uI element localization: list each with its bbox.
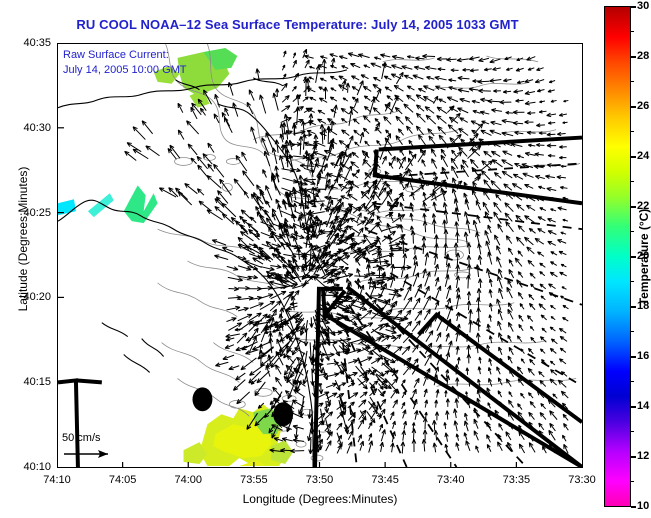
colorbar-minor-tick [631,281,634,282]
x-tick-label: 73:35 [503,474,531,486]
x-tick-label: 73:45 [371,474,399,486]
y-tick-marks [57,43,66,468]
x-tick-label: 73:55 [240,474,268,486]
station-marker-east [273,402,293,426]
surface-current-vectors [125,49,569,454]
colorbar-tick-mark [631,106,636,108]
right-arrow-icon [62,444,118,462]
station-marker-west [192,387,212,411]
colorbar-minor-tick [631,231,634,232]
colorbar-tick-mark [631,6,636,8]
colorbar-minor-tick [631,81,634,82]
colorbar-minor-tick [631,181,634,182]
plot-area[interactable] [57,43,583,468]
x-tick-label: 73:50 [306,474,334,486]
vector-scale-label: 50 cm/s [62,432,118,444]
colorbar-minor-tick [631,31,634,32]
annotation-line-2: July 14, 2005 10:00 GMT [63,63,187,78]
colorbar-tick-mark [631,256,636,258]
x-tick-label: 74:10 [43,474,71,486]
x-axis-label: Longitude (Degrees:Minutes) [57,492,583,506]
colorbar[interactable] [604,6,631,507]
y-axis-label: Latitude (Degrees:Minutes) [16,124,30,354]
x-tick-label: 74:00 [174,474,202,486]
x-tick-label: 73:30 [568,474,596,486]
colorbar-tick-mark [631,156,636,158]
colorbar-tick-label: 12 [637,450,649,462]
y-tick-label: 40:25 [23,207,51,219]
colorbar-tick-label: 26 [637,100,649,112]
colorbar-tick-mark [631,356,636,358]
colorbar-tick-label: 14 [637,400,649,412]
colorbar-tick-mark [631,456,636,458]
y-tick-label: 40:10 [23,461,51,473]
x-tick-label: 73:40 [437,474,465,486]
colorbar-minor-tick [631,131,634,132]
colorbar-minor-tick [631,481,634,482]
raw-current-annotation: Raw Surface Current: July 14, 2005 10:00… [63,48,187,78]
colorbar-tick-mark [631,306,636,308]
y-tick-label: 40:15 [23,376,51,388]
colorbar-tick-label: 10 [637,500,649,512]
colorbar-minor-tick [631,381,634,382]
x-tick-marks [57,460,583,469]
colorbar-minor-tick [631,331,634,332]
colorbar-tick-mark [631,406,636,408]
y-tick-label: 40:35 [23,37,51,49]
y-tick-label: 40:20 [23,291,51,303]
plot-canvas [58,44,582,467]
y-tick-label: 40:30 [23,122,51,134]
annotation-line-1: Raw Surface Current: [63,48,187,63]
colorbar-tick-mark [631,506,636,508]
colorbar-tick-label: 28 [637,50,649,62]
colorbar-minor-tick [631,431,634,432]
vector-scale-key: 50 cm/s [62,432,118,467]
colorbar-tick-mark [631,56,636,58]
x-tick-label: 74:05 [109,474,137,486]
colorbar-label: Temperature (°C) [637,157,651,357]
colorbar-tick-label: 30 [637,0,649,12]
colorbar-tick-mark [631,206,636,208]
page-title: RU COOL NOAA–12 Sea Surface Temperature:… [0,17,595,32]
